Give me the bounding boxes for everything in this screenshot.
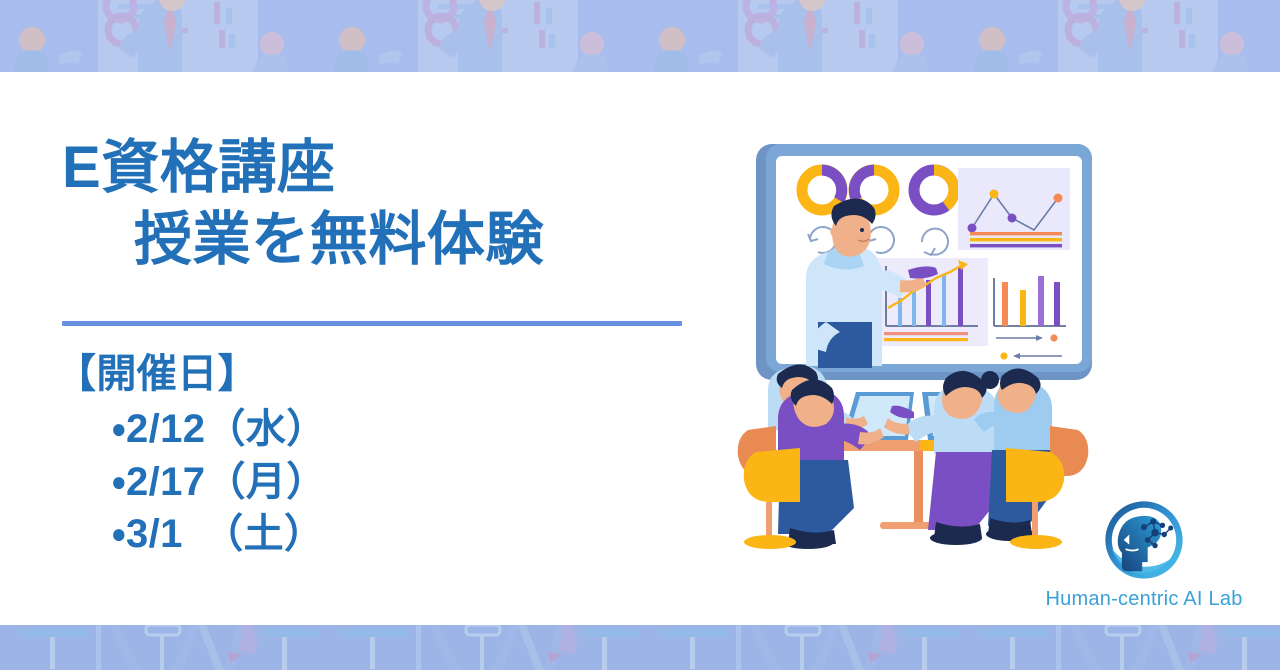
headline-line-2: 授業を無料体験 (62, 204, 722, 276)
band-pattern-tile (0, 625, 320, 670)
band-pattern-tile (0, 0, 320, 72)
band-pattern-tile (640, 625, 960, 670)
band-pattern-tile (960, 0, 1280, 72)
list-item: ・2/12（水） (56, 403, 327, 456)
schedule-date-list: ・2/12（水） ・2/17（月） ・3/1 （土） (56, 403, 327, 561)
list-item: ・2/17（月） (56, 456, 327, 509)
headline-line-1: E資格講座 (62, 135, 336, 200)
brand-logo-text: Human-centric AI Lab (1020, 588, 1268, 611)
list-item: ・3/1 （土） (56, 508, 327, 561)
schedule-block: 【開催日】 ・2/12（水） ・2/17（月） ・3/1 （土） (56, 352, 327, 561)
band-pattern-tile (320, 625, 640, 670)
band-pattern-tile (640, 0, 960, 72)
brand-logo: Human-centric AI Lab (1020, 494, 1268, 611)
schedule-label: 【開催日】 (56, 352, 327, 397)
line-chart-panel (958, 168, 1070, 250)
page-title: E資格講座授業を無料体験 (62, 132, 722, 276)
band-pattern-tile (960, 625, 1280, 670)
band-pattern-tile (320, 0, 640, 72)
poster-canvas: E資格講座授業を無料体験 【開催日】 ・2/12（水） ・2/17（月） ・3/… (0, 0, 1280, 670)
top-decorative-band (0, 0, 1280, 72)
title-divider (62, 321, 682, 326)
bottom-decorative-band (0, 625, 1280, 670)
brain-head-circle-logo-icon (1098, 494, 1190, 586)
